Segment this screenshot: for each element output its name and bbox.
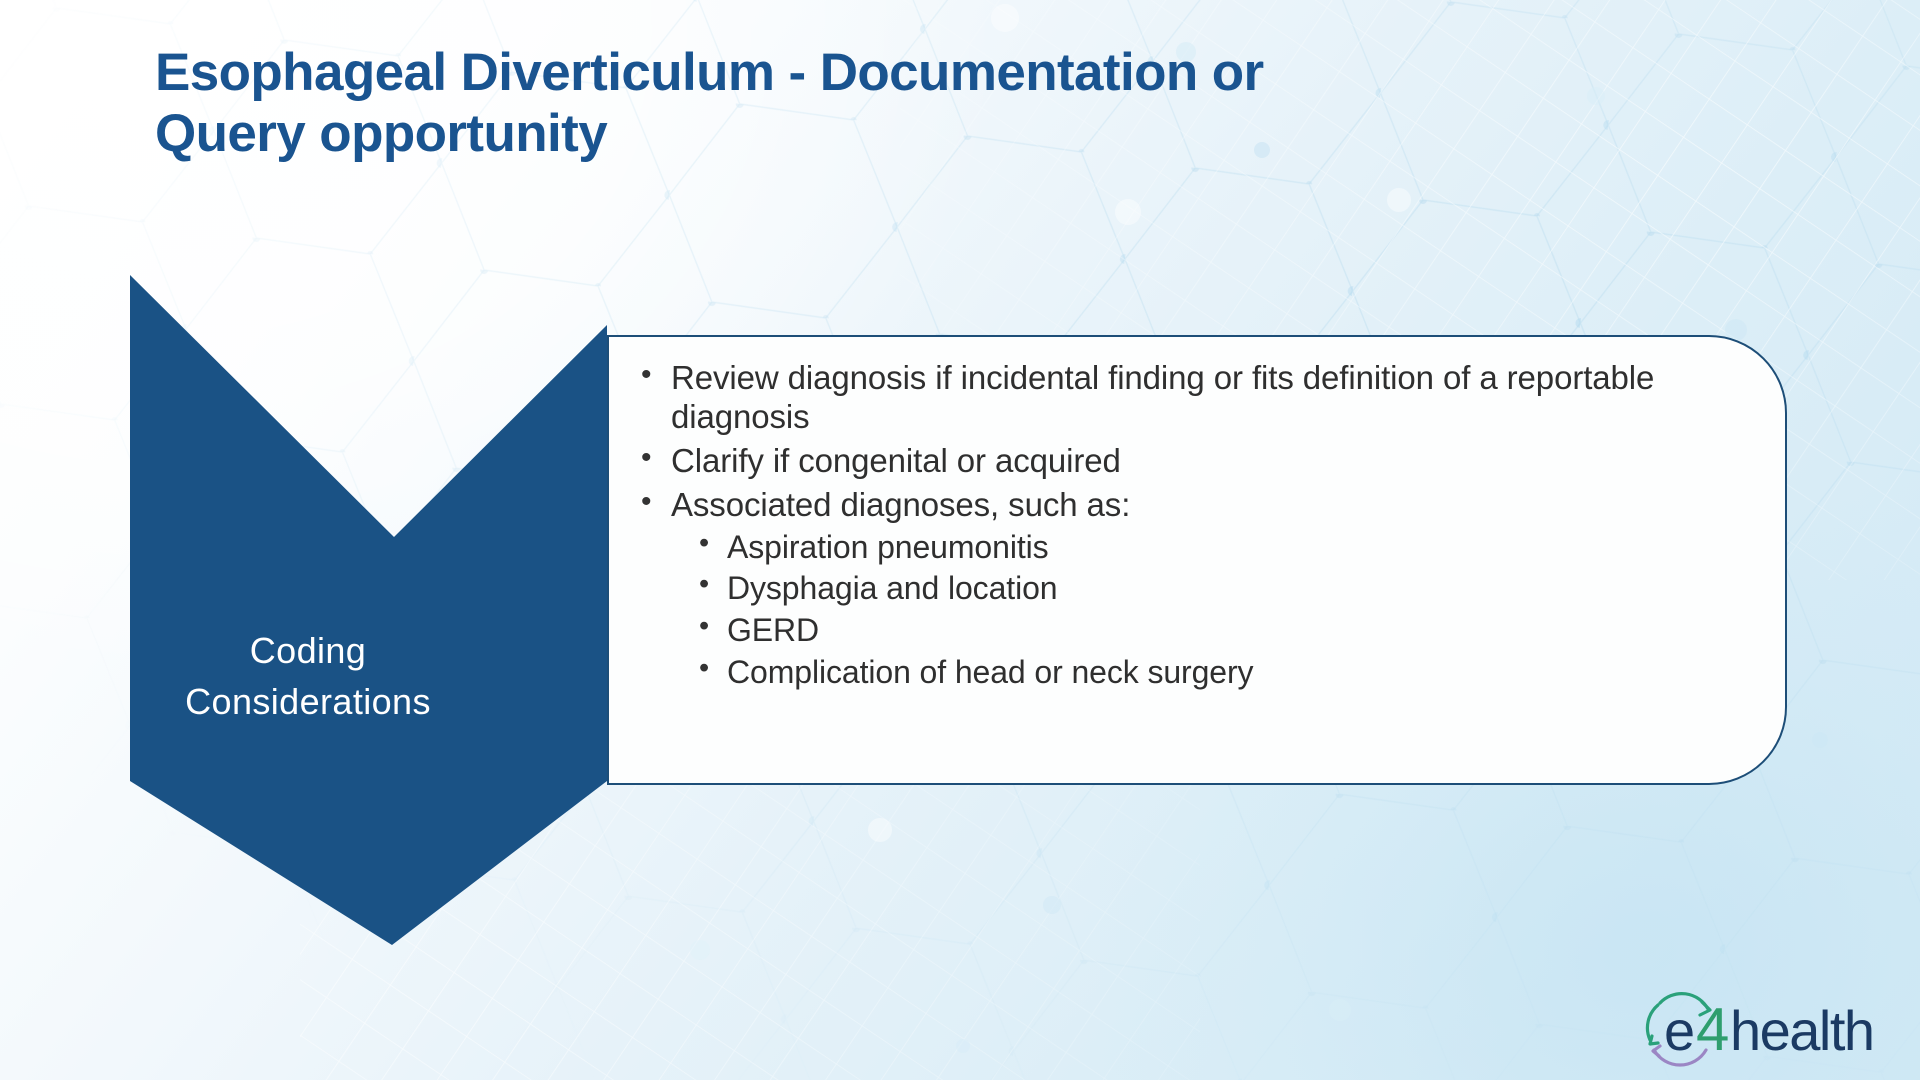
bullet-text: Associated diagnoses, such as:	[671, 486, 1130, 523]
chevron-label: Coding Considerations	[128, 625, 488, 727]
bullet-list: Review diagnosis if incidental finding o…	[627, 359, 1745, 693]
logo-wordmark-e: e	[1664, 999, 1694, 1062]
list-item: Review diagnosis if incidental finding o…	[627, 359, 1745, 437]
sub-bullet-text: Aspiration pneumonitis	[727, 529, 1049, 565]
sub-bullet-list: Aspiration pneumonitis Dysphagia and loc…	[671, 527, 1745, 693]
sub-list-item: GERD	[671, 610, 1745, 652]
coding-considerations-chevron	[100, 265, 620, 965]
card-content: Review diagnosis if incidental finding o…	[627, 359, 1745, 698]
bullet-text: Review diagnosis if incidental finding o…	[671, 359, 1654, 435]
chevron-shape	[130, 275, 607, 945]
sub-bullet-text: Complication of head or neck surgery	[727, 654, 1253, 690]
e4health-logo: e 4 health	[1640, 988, 1905, 1070]
sub-bullet-text: Dysphagia and location	[727, 570, 1057, 606]
sub-list-item: Aspiration pneumonitis	[671, 527, 1745, 569]
sub-bullet-text: GERD	[727, 612, 819, 648]
list-item: Associated diagnoses, such as: Aspiratio…	[627, 486, 1745, 693]
sub-list-item: Complication of head or neck surgery	[671, 652, 1745, 694]
logo-wordmark-4: 4	[1696, 996, 1729, 1063]
slide-canvas: Esophageal Diverticulum - Documentation …	[0, 0, 1920, 1080]
logo-wordmark-health: health	[1730, 999, 1874, 1062]
coding-considerations-card: Review diagnosis if incidental finding o…	[607, 335, 1787, 785]
bullet-text: Clarify if congenital or acquired	[671, 442, 1121, 479]
sub-list-item: Dysphagia and location	[671, 568, 1745, 610]
page-title: Esophageal Diverticulum - Documentation …	[155, 42, 1475, 165]
list-item: Clarify if congenital or acquired	[627, 442, 1745, 481]
